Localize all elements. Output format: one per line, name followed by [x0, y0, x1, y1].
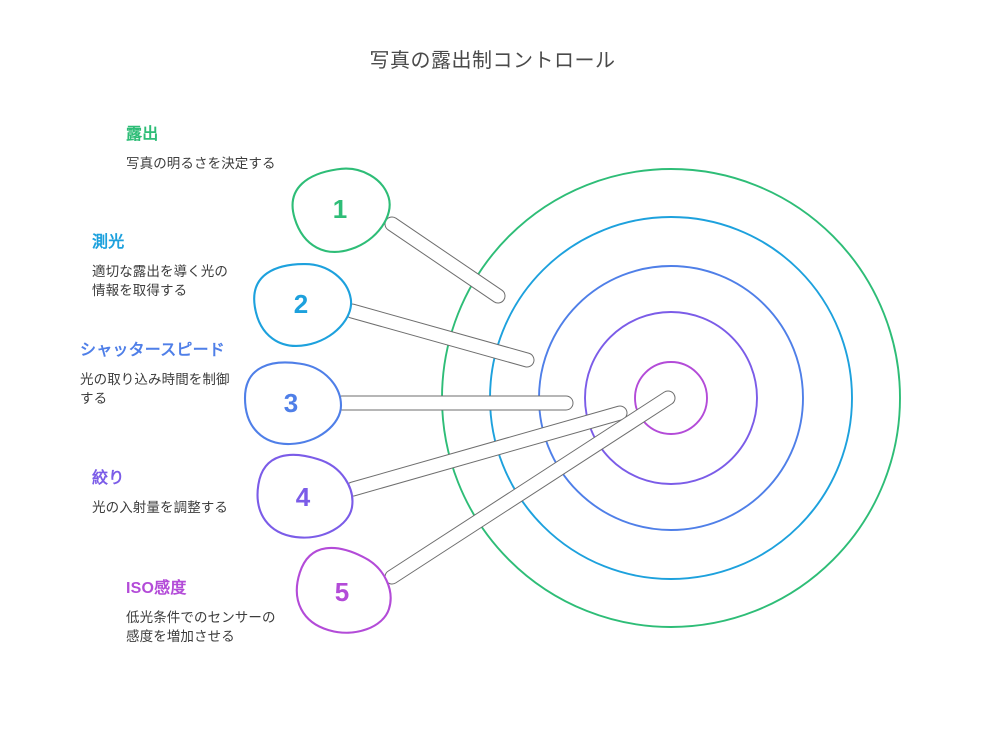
number-marker-exposure[interactable]: 1	[284, 156, 400, 262]
marker-number-aperture: 4	[296, 482, 311, 512]
infographic-canvas: 写真の露出制コントロール 12345 露出写真の明るさを決定する測光適切な露出を…	[0, 0, 985, 756]
marker-number-exposure: 1	[333, 194, 347, 224]
legend-title-aperture: 絞り	[92, 468, 244, 489]
number-marker-metering[interactable]: 2	[249, 256, 357, 352]
number-marker-iso[interactable]: 5	[286, 539, 403, 646]
connector-stem-outline-exposure	[392, 224, 498, 296]
legend-title-iso: ISO感度	[126, 578, 280, 599]
legend-description-exposure: 写真の明るさを決定する	[126, 154, 278, 173]
marker-number-iso: 5	[335, 577, 349, 607]
legend-item-iso[interactable]: ISO感度低光条件でのセンサーの感度を増加させる	[126, 578, 280, 646]
marker-number-metering: 2	[294, 289, 308, 319]
number-marker-aperture[interactable]: 4	[251, 449, 359, 545]
connector-stem-outline-iso	[392, 398, 668, 577]
legend-title-shutter-speed: シャッタースピード	[80, 340, 238, 361]
legend-title-exposure: 露出	[126, 124, 278, 145]
legend-item-aperture[interactable]: 絞り光の入射量を調整する	[92, 468, 244, 517]
legend-description-shutter-speed: 光の取り込み時間を制御する	[80, 370, 238, 408]
legend-item-shutter-speed[interactable]: シャッタースピード光の取り込み時間を制御する	[80, 340, 238, 408]
legend-title-metering: 測光	[92, 232, 238, 253]
legend-description-iso: 低光条件でのセンサーの感度を増加させる	[126, 608, 280, 646]
marker-number-shutter-speed: 3	[284, 388, 298, 418]
legend-item-exposure[interactable]: 露出写真の明るさを決定する	[126, 124, 278, 173]
legend-description-aperture: 光の入射量を調整する	[92, 498, 244, 517]
legend-description-metering: 適切な露出を導く光の情報を取得する	[92, 262, 238, 300]
number-marker-shutter-speed[interactable]: 3	[245, 362, 341, 444]
legend-item-metering[interactable]: 測光適切な露出を導く光の情報を取得する	[92, 232, 238, 300]
